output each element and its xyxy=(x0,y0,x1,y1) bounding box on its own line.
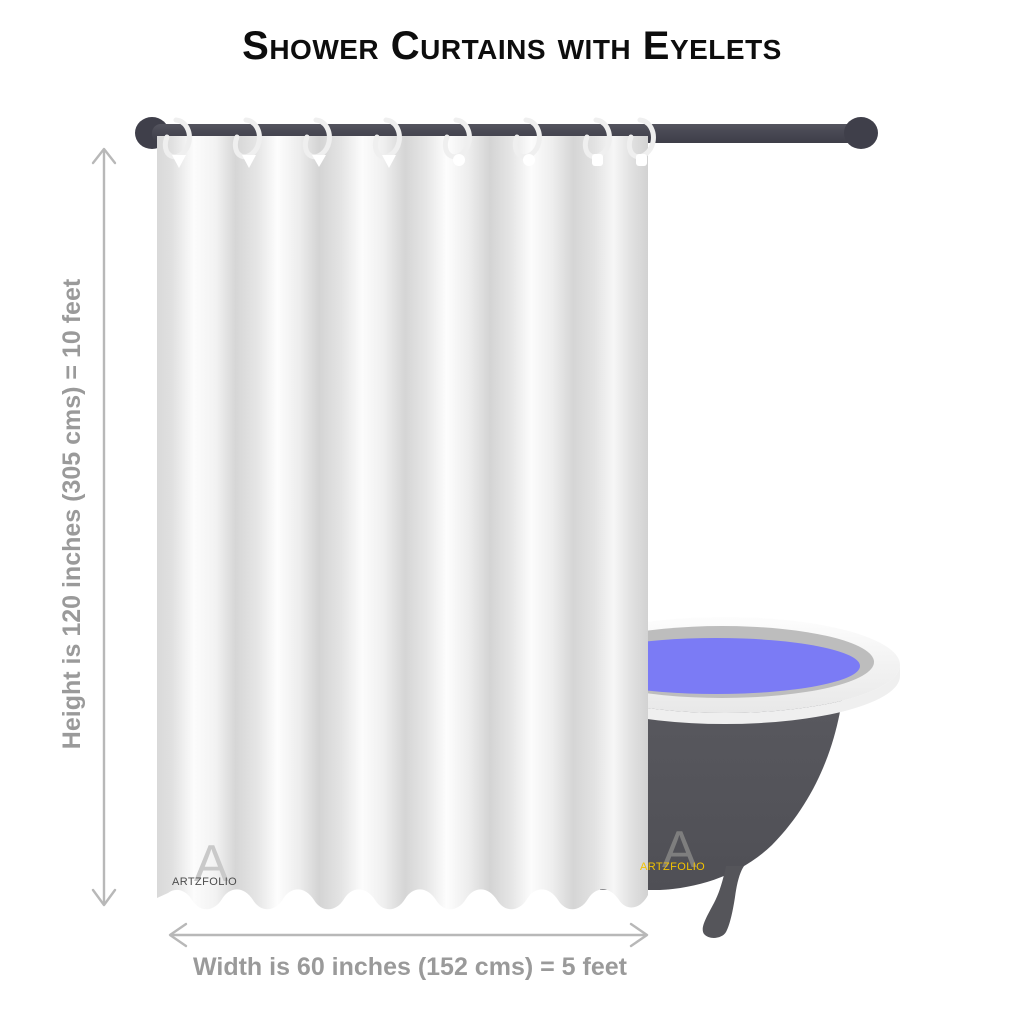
shower-curtain-illustration xyxy=(0,0,1024,1024)
rod-finial-right-icon xyxy=(844,117,878,149)
eyelet-hole xyxy=(592,154,603,166)
eyelet-hole xyxy=(523,154,535,166)
width-dimension-arrow xyxy=(170,924,647,946)
height-dimension-arrow xyxy=(93,149,115,905)
diagram-canvas: Shower Curtains with Eyelets xyxy=(0,0,1024,1024)
eyelet-hole xyxy=(636,154,647,166)
eyelet-hole xyxy=(453,154,465,166)
shower-curtain xyxy=(157,130,648,920)
